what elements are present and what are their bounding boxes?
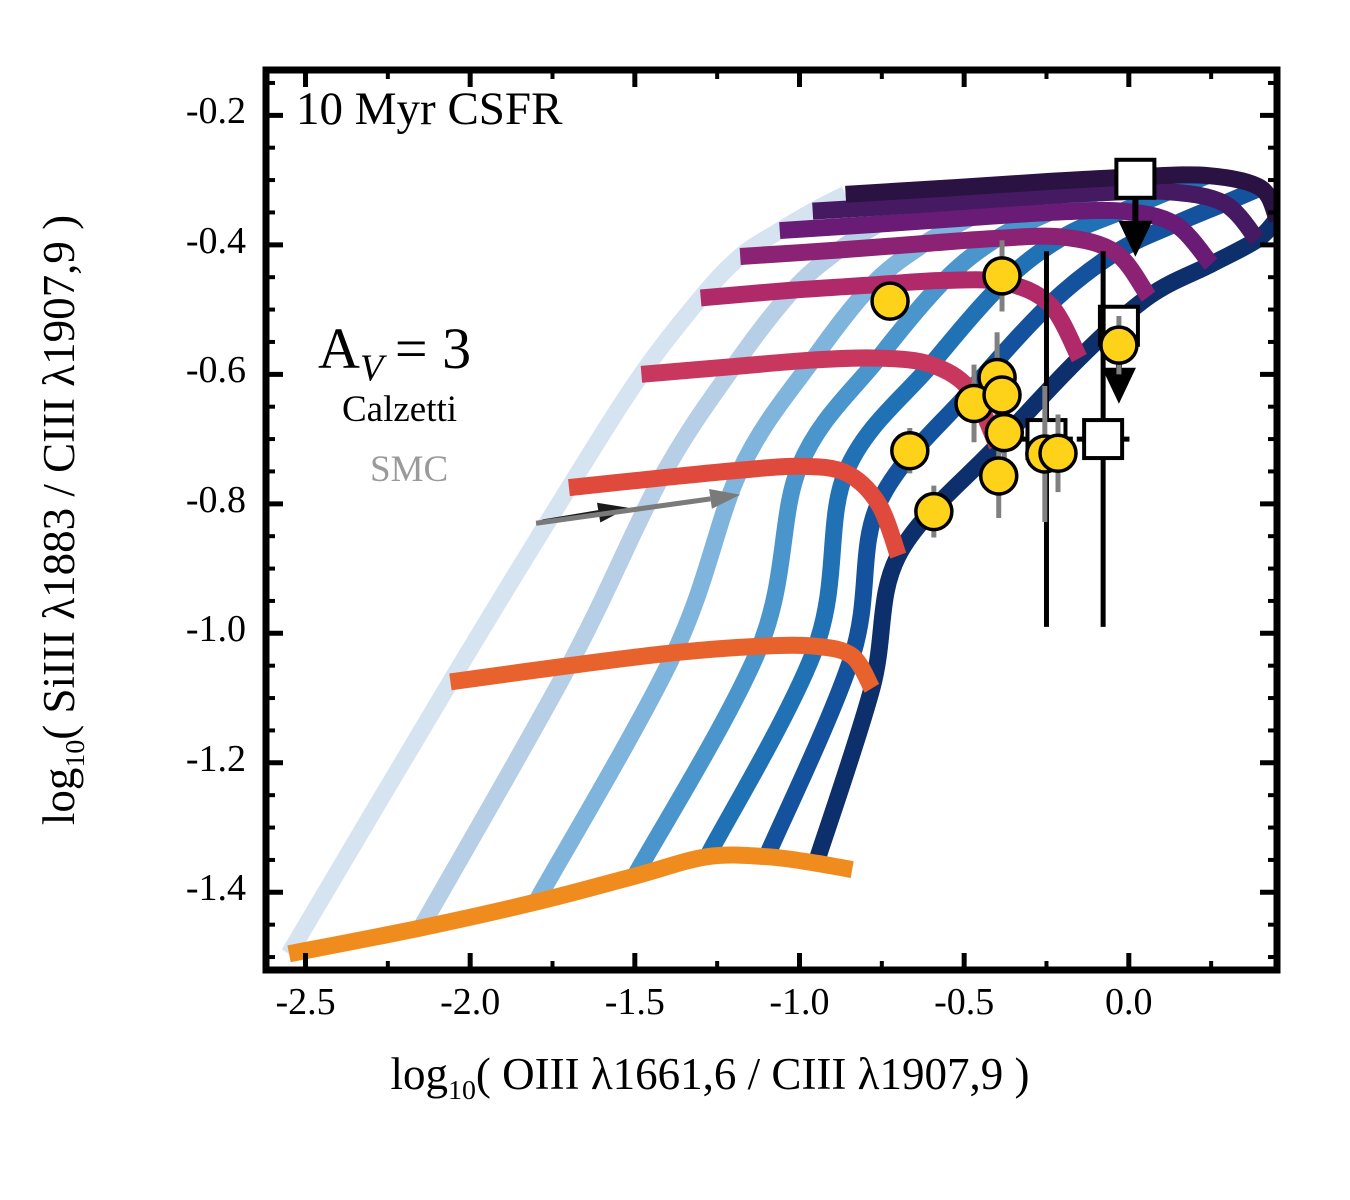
model-grid	[289, 175, 1277, 954]
y-tick-label: -0.4	[86, 219, 246, 263]
x-axis-label: log10( OIII λ1661,6 / CIII λ1907,9 )	[0, 1048, 1350, 1107]
upper-limit-square	[1084, 420, 1122, 458]
calzetti-label: Calzetti	[342, 388, 457, 431]
x-tick-label: -0.5	[904, 980, 1024, 1024]
observation-point	[1040, 435, 1076, 471]
y-axis-label: log10( SiIII λ1883 / CIII λ1907,9 )	[33, 70, 92, 970]
observation-point	[916, 494, 952, 530]
observation-point	[984, 377, 1020, 413]
y-tick-label: -1.0	[86, 607, 246, 651]
y-tick-label: -1.2	[86, 737, 246, 781]
x-tick-label: -2.0	[410, 980, 530, 1024]
y-tick-label: -0.6	[86, 348, 246, 392]
extinction-annotation: AV = 3	[318, 315, 471, 391]
observation-point	[1101, 327, 1137, 363]
x-tick-label: 0.0	[1069, 980, 1189, 1024]
observation-point	[986, 415, 1022, 451]
figure-canvas: -2.5-2.0-1.5-1.0-0.50.0-0.2-0.4-0.6-0.8-…	[0, 0, 1350, 1200]
observation-point	[981, 458, 1017, 494]
y-tick-label: -0.2	[86, 89, 246, 133]
observation-point	[984, 258, 1020, 294]
observation-point	[872, 283, 908, 319]
y-tick-label: -0.8	[86, 478, 246, 522]
upper-limit-square	[1116, 160, 1154, 198]
observation-point	[892, 433, 928, 469]
x-tick-label: -1.5	[575, 980, 695, 1024]
y-tick-label: -1.4	[86, 866, 246, 910]
x-tick-label: -2.5	[246, 980, 366, 1024]
metallicity-track	[289, 855, 852, 954]
x-tick-label: -1.0	[739, 980, 859, 1024]
smc-label: SMC	[370, 448, 448, 491]
csfr-annotation: 10 Myr CSFR	[296, 82, 562, 136]
